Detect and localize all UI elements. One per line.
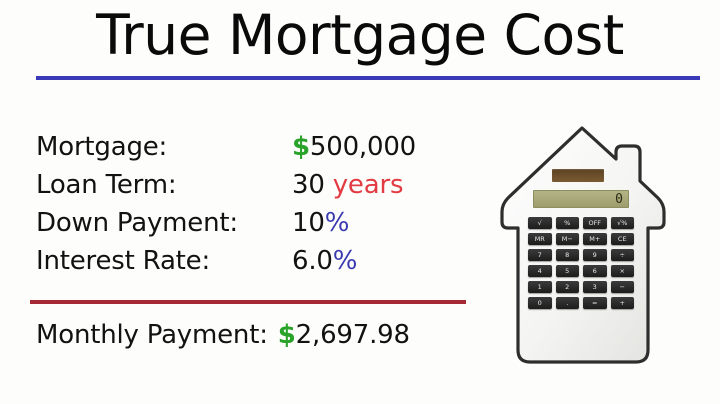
calculator-key[interactable]: 1 — [528, 281, 552, 293]
calculator-key[interactable]: 0 — [528, 297, 552, 309]
detail-value-loan-term-number: 30 — [292, 170, 333, 200]
percent-symbol: % — [333, 246, 358, 276]
monthly-payment-label: Monthly Payment: — [36, 320, 268, 350]
monthly-payment-amount: 2,697.98 — [296, 320, 410, 350]
section-divider — [30, 300, 466, 304]
detail-label-down-payment: Down Payment: — [36, 208, 292, 238]
calculator-key[interactable]: 5 — [556, 265, 580, 277]
detail-value-interest-rate-number: 6.0 — [292, 246, 333, 276]
calculator-key[interactable]: 7 — [528, 249, 552, 261]
lcd-display-value: 0 — [615, 193, 628, 206]
calculator-key[interactable]: % — [556, 217, 580, 229]
calculator-key[interactable]: 8 — [556, 249, 580, 261]
percent-symbol: % — [325, 208, 350, 238]
calculator-key[interactable]: M− — [556, 233, 580, 245]
calculator-key[interactable]: . — [556, 297, 580, 309]
detail-value-interest-rate: 6.0% — [292, 246, 357, 276]
solar-panel — [552, 169, 604, 182]
mortgage-details-list: Mortgage: $500,000 Loan Term: 30 years D… — [36, 132, 466, 284]
detail-row-down-payment: Down Payment: 10% — [36, 208, 466, 246]
currency-symbol: $ — [278, 320, 296, 350]
title-underline — [36, 76, 700, 80]
calculator-key[interactable]: ÷ — [611, 249, 635, 261]
detail-row-loan-term: Loan Term: 30 years — [36, 170, 466, 208]
unit-years: years — [333, 170, 404, 200]
calculator-key[interactable]: 4 — [528, 265, 552, 277]
calculator-key[interactable]: 9 — [583, 249, 607, 261]
house-calculator-image: 0 √%OFF√%MRM−M+CE789÷456×123−0.=+ — [494, 122, 690, 390]
calculator-key[interactable]: MR — [528, 233, 552, 245]
calculator-keypad: √%OFF√%MRM−M+CE789÷456×123−0.=+ — [528, 217, 634, 309]
calculator-key[interactable]: = — [583, 297, 607, 309]
calculator-key[interactable]: √% — [611, 217, 635, 229]
detail-label-loan-term: Loan Term: — [36, 170, 292, 200]
calculator-key[interactable]: OFF — [583, 217, 607, 229]
detail-value-down-payment-number: 10 — [292, 208, 325, 238]
calculator-key[interactable]: × — [611, 265, 635, 277]
calculator-key[interactable]: − — [611, 281, 635, 293]
detail-label-mortgage: Mortgage: — [36, 132, 292, 162]
detail-label-interest-rate: Interest Rate: — [36, 246, 292, 276]
calculator-key[interactable]: 6 — [583, 265, 607, 277]
calculator-key[interactable]: M+ — [583, 233, 607, 245]
detail-value-loan-term: 30 years — [292, 170, 403, 200]
calculator-key[interactable]: 2 — [556, 281, 580, 293]
detail-value-mortgage: $500,000 — [292, 132, 416, 162]
detail-row-interest-rate: Interest Rate: 6.0% — [36, 246, 466, 284]
calculator-key[interactable]: CE — [611, 233, 635, 245]
calculator-key[interactable]: + — [611, 297, 635, 309]
monthly-payment-value: $2,697.98 — [278, 320, 410, 350]
page-title: True Mortgage Cost — [0, 4, 720, 66]
lcd-display: 0 — [533, 190, 629, 208]
slide-canvas: True Mortgage Cost Mortgage: $500,000 Lo… — [0, 0, 720, 404]
monthly-payment-row: Monthly Payment: $2,697.98 — [36, 320, 410, 350]
calculator-key[interactable]: 3 — [583, 281, 607, 293]
detail-value-mortgage-amount: 500,000 — [310, 132, 416, 162]
calculator-key[interactable]: √ — [528, 217, 552, 229]
title-block: True Mortgage Cost — [0, 4, 720, 66]
currency-symbol: $ — [292, 132, 310, 162]
detail-row-mortgage: Mortgage: $500,000 — [36, 132, 466, 170]
detail-value-down-payment: 10% — [292, 208, 349, 238]
